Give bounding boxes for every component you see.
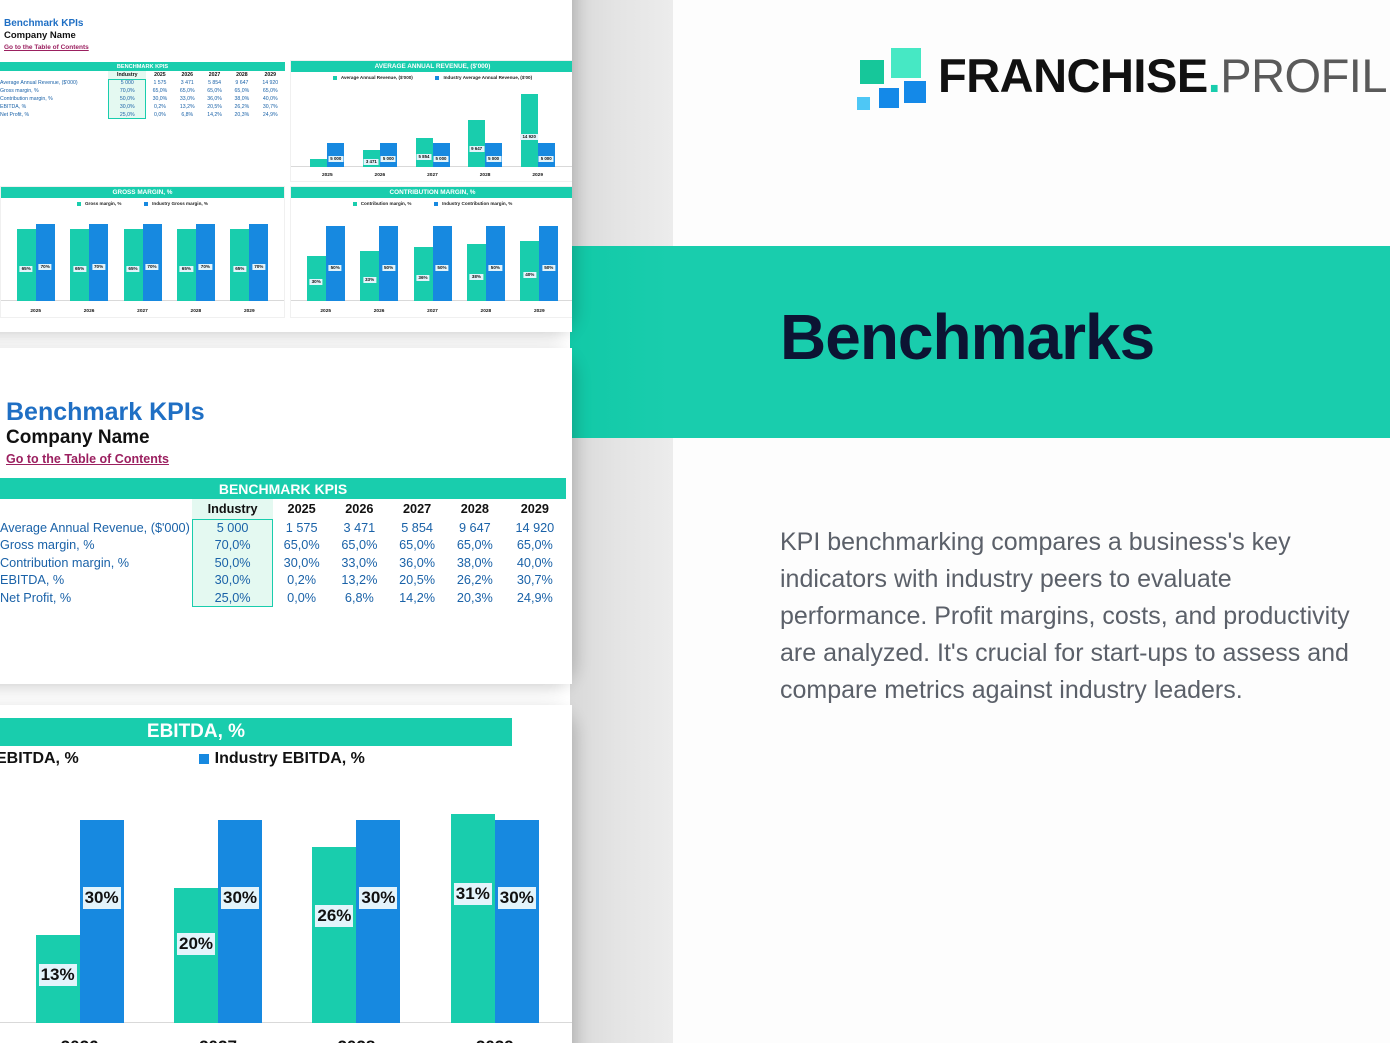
- kpi-banner: BENCHMARK KPIS: [0, 478, 566, 499]
- kpi-industry-cell: 25,0%: [108, 111, 146, 119]
- chart-bar: 65%: [230, 229, 249, 301]
- chart-bar: 5 000: [380, 143, 397, 167]
- kpi-value-cell: 20,5%: [201, 103, 228, 111]
- chart-gross-margin-mini-plot: 65%70%202565%70%202665%70%202765%70%2028…: [1, 215, 284, 317]
- chart-bar: 30%: [307, 256, 326, 301]
- chart-data-label: 50%: [329, 265, 342, 271]
- chart-bar-group: 65%70%: [70, 224, 108, 301]
- kpi-row-label: Net Profit, %: [0, 111, 108, 119]
- table-row: Net Profit, %25,0%0,0%6,8%14,2%20,3%24,9…: [0, 589, 566, 607]
- logo-square-mint: [891, 48, 921, 78]
- chart-ebitda-title: EBITDA, %: [0, 718, 512, 746]
- chart-ebitda-legend: EBITDA, % Industry EBITDA, %: [0, 750, 400, 768]
- kpi-row-label: Net Profit, %: [0, 589, 192, 607]
- kpi-value-cell: 9 647: [228, 79, 255, 87]
- chart-gross-margin-mini-title: GROSS MARGIN, %: [1, 187, 284, 198]
- excel-sheet-overview: Benchmark KPIs Company Name Go to the Ta…: [0, 0, 572, 332]
- kpi-value-cell: 24,9%: [256, 111, 285, 119]
- chart-data-label: 26%: [315, 905, 353, 927]
- chart-bar: 65%: [70, 229, 89, 301]
- table-row: Average Annual Revenue, ($'000)5 0001 57…: [0, 79, 285, 87]
- kpi-value-cell: 3 471: [331, 519, 389, 537]
- chart-bar: 70%: [36, 224, 55, 301]
- chart-bar: 30%: [80, 820, 124, 1023]
- chart-x-label: 2029: [511, 173, 564, 178]
- chart-data-label: 40%: [523, 272, 536, 278]
- chart-bar: 70%: [249, 224, 268, 301]
- kpi-value-cell: 5 854: [201, 79, 228, 87]
- sheet-title-mini: Benchmark KPIs: [4, 18, 83, 30]
- legend-item-cm-company: Contribution margin, %: [353, 201, 412, 206]
- chart-bar: 50%: [326, 226, 345, 301]
- chart-data-label: 30%: [359, 887, 397, 909]
- chart-bar: 50%: [433, 226, 452, 301]
- logo-square-blue-small: [879, 88, 899, 108]
- chart-data-label: 20%: [177, 933, 215, 955]
- chart-x-label: 2025: [0, 1037, 10, 1043]
- logo-square-lightblue: [857, 97, 870, 110]
- kpi-value-cell: 6,8%: [331, 589, 389, 607]
- chart-bar-group: 30%50%: [307, 226, 345, 301]
- chart-x-label: 2026: [352, 309, 405, 314]
- chart-bar-group: 33%50%: [360, 226, 398, 301]
- chart-revenue-mini: AVERAGE ANNUAL REVENUE, ($'000) Average …: [290, 60, 572, 182]
- kpi-industry-cell: 50,0%: [192, 554, 272, 572]
- kpi-value-cell: 20,5%: [388, 572, 446, 590]
- chart-bar: 36%: [414, 247, 433, 301]
- chart-x-label: 2027: [149, 1037, 287, 1043]
- legend-item-ebitda-industry: Industry EBITDA, %: [199, 750, 365, 768]
- chart-bar: 31%: [451, 814, 495, 1023]
- kpi-value-cell: 65,0%: [228, 87, 255, 95]
- legend-item-gm-company: Gross margin, %: [77, 201, 122, 206]
- chart-bar-group: 65%70%: [124, 224, 162, 301]
- chart-data-label: 65%: [20, 266, 33, 272]
- kpi-value-cell: 65,0%: [256, 87, 285, 95]
- chart-x-label: 2029: [426, 1037, 564, 1043]
- chart-data-label: 70%: [145, 264, 158, 270]
- chart-data-label: 70%: [199, 264, 212, 270]
- chart-data-label: 70%: [92, 264, 105, 270]
- kpi-value-cell: 13,2%: [331, 572, 389, 590]
- kpi-value-cell: 24,9%: [504, 589, 566, 607]
- kpi-value-cell: 0,0%: [146, 111, 173, 119]
- kpi-value-cell: 14,2%: [388, 589, 446, 607]
- chart-data-label: 5 854: [417, 154, 432, 160]
- chart-bar: 5 854: [416, 138, 433, 167]
- chart-bar: 70%: [89, 224, 108, 301]
- chart-data-label: 38%: [470, 274, 483, 280]
- chart-data-label: 65%: [126, 266, 139, 272]
- chart-gross-margin-mini: GROSS MARGIN, % Gross margin, % Industry…: [0, 186, 285, 318]
- kpi-value-cell: 65,0%: [273, 537, 331, 555]
- chart-bar: 30%: [356, 820, 400, 1023]
- kpi-value-cell: 30,7%: [504, 572, 566, 590]
- chart-x-label: 2025: [301, 173, 354, 178]
- kpi-banner-mini: BENCHMARK KPIS: [0, 62, 285, 71]
- kpi-value-cell: 65,0%: [174, 87, 201, 95]
- kpi-industry-cell: 70,0%: [192, 537, 272, 555]
- brand-name-light: PROFILES: [1220, 49, 1390, 102]
- sheet-subtitle: Company Name: [6, 426, 150, 450]
- chart-bar: 5 000: [433, 143, 450, 167]
- kpi-value-cell: 14 920: [504, 519, 566, 537]
- kpi-col-header: Industry: [108, 71, 146, 79]
- brand-logo: FRANCHISE.PROFILES: [852, 44, 1390, 106]
- chart-bar: 30%: [218, 820, 262, 1023]
- chart-bar: 13%: [36, 935, 80, 1023]
- kpi-value-cell: 3 471: [174, 79, 201, 87]
- kpi-value-cell: 13,2%: [174, 103, 201, 111]
- chart-bar-group: 9 6475 000: [468, 120, 502, 167]
- franchise-profiles-logo-icon: [852, 44, 922, 106]
- table-row: Gross margin, %70,0%65,0%65,0%65,0%65,0%…: [0, 537, 566, 555]
- kpi-value-cell: 26,2%: [228, 103, 255, 111]
- slide-canvas: FRANCHISE.PROFILES Benchmarks KPI benchm…: [0, 0, 1390, 1043]
- chart-bar-group: 65%70%: [230, 224, 268, 301]
- kpi-head-row: Industry20252026202720282029: [0, 499, 566, 519]
- chart-bar: 40%: [520, 241, 539, 301]
- chart-bar-group: 38%50%: [467, 226, 505, 301]
- table-row: Gross margin, %70,0%65,0%65,0%65,0%65,0%…: [0, 87, 285, 95]
- kpi-row-label: Contribution margin, %: [0, 554, 192, 572]
- chart-data-label: 14 920: [520, 134, 537, 140]
- chart-data-label: 70%: [252, 264, 265, 270]
- kpi-value-cell: 20,3%: [446, 589, 504, 607]
- kpi-industry-cell: 70,0%: [108, 87, 146, 95]
- kpi-value-cell: 65,0%: [446, 537, 504, 555]
- kpi-value-cell: 30,0%: [273, 554, 331, 572]
- chart-data-label: 70%: [39, 264, 52, 270]
- kpi-industry-cell: 25,0%: [192, 589, 272, 607]
- chart-bar-group: 5 000: [310, 143, 344, 167]
- toc-link-mini[interactable]: Go to the Table of Contents: [4, 43, 89, 52]
- kpi-industry-cell: 50,0%: [108, 95, 146, 103]
- brand-dot: .: [1208, 49, 1221, 102]
- kpi-value-cell: 40,0%: [256, 95, 285, 103]
- chart-data-label: 5 000: [328, 156, 343, 162]
- chart-x-label: 2027: [116, 309, 169, 314]
- chart-data-label: 5 000: [539, 156, 554, 162]
- legend-item-revenue-industry: Industry Average Annual Revenue, ($'00): [435, 75, 532, 80]
- gray-divider-strip: [570, 0, 673, 1043]
- kpi-value-cell: 26,2%: [446, 572, 504, 590]
- table-row: Average Annual Revenue, ($'000)5 0001 57…: [0, 519, 566, 537]
- kpi-row-label: Gross margin, %: [0, 87, 108, 95]
- kpi-value-cell: 33,0%: [331, 554, 389, 572]
- chart-x-label: 2026: [10, 1037, 148, 1043]
- kpi-value-cell: 6,8%: [174, 111, 201, 119]
- chart-bar: 50%: [539, 226, 558, 301]
- kpi-col-header: 2028: [446, 499, 504, 519]
- chart-bar-group: 31%30%: [451, 814, 539, 1023]
- chart-bar: [310, 159, 327, 167]
- legend-item-gm-industry: Industry Gross margin, %: [144, 201, 208, 206]
- brand-wordmark: FRANCHISE.PROFILES: [938, 52, 1390, 99]
- chart-ebitda: EBITDA, % EBITDA, % Industry EBITDA, % 3…: [0, 705, 572, 1043]
- kpi-industry-cell: 30,0%: [108, 103, 146, 111]
- sheet-subtitle-mini: Company Name: [4, 30, 76, 42]
- sheet-title: Benchmark KPIs: [6, 398, 205, 426]
- right-panel-background: [673, 0, 1390, 1043]
- chart-bar: 14 920: [521, 94, 538, 167]
- chart-bar-group: 13%30%: [36, 820, 124, 1023]
- legend-item-cm-industry: Industry Contribution margin, %: [434, 201, 512, 206]
- kpi-row-label: Gross margin, %: [0, 537, 192, 555]
- chart-contribution-margin-mini-title: CONTRIBUTION MARGIN, %: [291, 187, 572, 198]
- kpi-col-header: 2025: [146, 71, 173, 79]
- kpi-value-cell: 30,0%: [146, 95, 173, 103]
- chart-data-label: 3 471: [364, 159, 379, 165]
- chart-bar: 50%: [486, 226, 505, 301]
- kpi-value-cell: 0,2%: [146, 103, 173, 111]
- kpi-col-header: 2028: [228, 71, 255, 79]
- kpi-col-header: 2025: [273, 499, 331, 519]
- kpi-value-cell: 9 647: [446, 519, 504, 537]
- description-paragraph: KPI benchmarking compares a business's k…: [780, 524, 1360, 709]
- excel-sheet-ebitda: EBITDA, % EBITDA, % Industry EBITDA, % 3…: [0, 705, 572, 1043]
- page-title: Benchmarks: [780, 305, 1154, 369]
- chart-bar-group: 26%30%: [312, 820, 400, 1023]
- logo-square-blue-large: [904, 81, 926, 103]
- chart-data-label: 30%: [498, 887, 536, 909]
- kpi-table-mini: BENCHMARK KPIS Industry20252026202720282…: [0, 62, 285, 119]
- kpi-col-header: 2026: [331, 499, 389, 519]
- chart-bar-group: 3 4715 000: [363, 143, 397, 167]
- logo-square-teal: [860, 60, 884, 84]
- chart-bar-group: 20%30%: [174, 820, 262, 1023]
- chart-bar: 5 000: [485, 143, 502, 167]
- kpi-col-header: 2027: [388, 499, 446, 519]
- chart-x-label: 2026: [354, 173, 407, 178]
- kpi-value-cell: 38,0%: [228, 95, 255, 103]
- chart-x-label: 2025: [299, 309, 352, 314]
- chart-x-label: 2028: [287, 1037, 425, 1043]
- screenshot-card-ebitda: EBITDA, % EBITDA, % Industry EBITDA, % 3…: [0, 705, 572, 1043]
- chart-bar: 65%: [17, 229, 36, 301]
- kpi-value-cell: 33,0%: [174, 95, 201, 103]
- kpi-value-cell: 38,0%: [446, 554, 504, 572]
- chart-data-label: 30%: [83, 887, 121, 909]
- kpi-value-cell: 1 575: [146, 79, 173, 87]
- chart-data-label: 50%: [382, 265, 395, 271]
- chart-x-label: 2029: [513, 309, 566, 314]
- kpi-value-cell: 36,0%: [201, 95, 228, 103]
- chart-bar-group: 14 9205 000: [521, 94, 555, 167]
- chart-bar: 26%: [312, 847, 356, 1023]
- kpi-value-cell: 65,0%: [388, 537, 446, 555]
- kpi-industry-cell: 30,0%: [192, 572, 272, 590]
- chart-x-label: 2028: [459, 309, 512, 314]
- chart-data-label: 65%: [180, 266, 193, 272]
- kpi-col-header: 2029: [504, 499, 566, 519]
- kpi-value-cell: 30,7%: [256, 103, 285, 111]
- legend-item-revenue-company: Average Annual Revenue, ($'000): [333, 75, 413, 80]
- kpi-col-header: 2026: [174, 71, 201, 79]
- kpi-table: BENCHMARK KPIS Industry20252026202720282…: [0, 478, 566, 607]
- chart-bar: 20%: [174, 888, 218, 1023]
- kpi-value-cell: 65,0%: [146, 87, 173, 95]
- chart-data-label: 31%: [454, 883, 492, 905]
- chart-x-label: 2026: [62, 309, 115, 314]
- kpi-row-label: Contribution margin, %: [0, 95, 108, 103]
- kpi-industry-cell: 5 000: [108, 79, 146, 87]
- chart-data-label: 50%: [489, 265, 502, 271]
- kpi-value-cell: 14,2%: [201, 111, 228, 119]
- screenshot-card-kpi-table: Benchmark KPIs Company Name Go to the Ta…: [0, 348, 572, 684]
- chart-x-label: 2025: [9, 309, 62, 314]
- kpi-value-cell: 40,0%: [504, 554, 566, 572]
- chart-revenue-mini-legend: Average Annual Revenue, ($'000) Industry…: [291, 75, 572, 80]
- kpi-value-cell: 0,2%: [273, 572, 331, 590]
- chart-revenue-mini-title: AVERAGE ANNUAL REVENUE, ($'000): [291, 61, 572, 72]
- toc-link[interactable]: Go to the Table of Contents: [6, 451, 169, 467]
- chart-bar: 9 647: [468, 120, 485, 167]
- chart-data-label: 65%: [233, 266, 246, 272]
- chart-bar-group: 5 8545 000: [416, 138, 450, 167]
- chart-bar: 5 000: [538, 143, 555, 167]
- chart-bar-group: 65%70%: [17, 224, 55, 301]
- table-row: EBITDA, %30,0%0,2%13,2%20,5%26,2%30,7%: [0, 572, 566, 590]
- kpi-col-header: 2027: [201, 71, 228, 79]
- kpi-table-mini-wrap: BENCHMARK KPIS Industry20252026202720282…: [0, 62, 285, 119]
- chart-bar: 3 471: [363, 150, 380, 167]
- table-row: Net Profit, %25,0%0,0%6,8%14,2%20,3%24,9…: [0, 111, 285, 119]
- kpi-body: Average Annual Revenue, ($'000)5 0001 57…: [0, 519, 566, 607]
- chart-bar: 50%: [379, 226, 398, 301]
- chart-data-label: 9 647: [469, 146, 484, 152]
- chart-bar: 65%: [177, 229, 196, 301]
- table-row: Contribution margin, %50,0%30,0%33,0%36,…: [0, 95, 285, 103]
- kpi-value-cell: 0,0%: [273, 589, 331, 607]
- chart-x-label: 2027: [406, 173, 459, 178]
- chart-x-label: 2027: [406, 309, 459, 314]
- chart-data-label: 33%: [363, 277, 376, 283]
- chart-bar: 5 000: [327, 143, 344, 167]
- kpi-col-header: 2029: [256, 71, 285, 79]
- chart-bar-group: 40%50%: [520, 226, 558, 301]
- kpi-value-cell: 5 854: [388, 519, 446, 537]
- chart-data-label: 30%: [310, 279, 323, 285]
- chart-bar-group: 36%50%: [414, 226, 452, 301]
- chart-contribution-margin-mini-plot: 30%50%202533%50%202636%50%202738%50%2028…: [291, 215, 572, 317]
- chart-data-label: 50%: [542, 265, 555, 271]
- kpi-value-cell: 65,0%: [201, 87, 228, 95]
- kpi-body-mini: Average Annual Revenue, ($'000)5 0001 57…: [0, 79, 285, 119]
- chart-bar: 65%: [124, 229, 143, 301]
- legend-item-ebitda-company: EBITDA, %: [0, 750, 79, 768]
- chart-bar: 33%: [360, 251, 379, 301]
- kpi-industry-cell: 5 000: [192, 519, 272, 537]
- chart-bar-group: 65%70%: [177, 224, 215, 301]
- chart-data-label: 65%: [73, 266, 86, 272]
- chart-bar: 30%: [495, 820, 539, 1023]
- chart-data-label: 5 000: [381, 156, 396, 162]
- chart-contribution-margin-mini: CONTRIBUTION MARGIN, % Contribution marg…: [290, 186, 572, 318]
- kpi-value-cell: 65,0%: [331, 537, 389, 555]
- kpi-value-cell: 36,0%: [388, 554, 446, 572]
- kpi-value-cell: 1 575: [273, 519, 331, 537]
- kpi-row-label: Average Annual Revenue, ($'000): [0, 519, 192, 537]
- chart-data-label: 36%: [416, 275, 429, 281]
- kpi-row-label: EBITDA, %: [0, 572, 192, 590]
- chart-gross-margin-mini-legend: Gross margin, % Industry Gross margin, %: [1, 201, 284, 206]
- screenshot-card-overview: Benchmark KPIs Company Name Go to the Ta…: [0, 0, 572, 332]
- chart-bar: 38%: [467, 244, 486, 301]
- excel-sheet-kpi: Benchmark KPIs Company Name Go to the Ta…: [0, 348, 572, 684]
- kpi-row-label: EBITDA, %: [0, 103, 108, 111]
- kpi-value-cell: 20,3%: [228, 111, 255, 119]
- chart-data-label: 30%: [221, 887, 259, 909]
- kpi-col-header: Industry: [192, 499, 272, 519]
- chart-ebitda-plot: 30%202513%30%202620%30%202726%30%202831%…: [0, 800, 572, 1043]
- chart-x-label: 2028: [459, 173, 512, 178]
- chart-bar: 70%: [196, 224, 215, 301]
- kpi-table-wrap: BENCHMARK KPIS Industry20252026202720282…: [0, 478, 566, 607]
- brand-name-bold: FRANCHISE: [938, 49, 1208, 102]
- chart-data-label: 5 000: [486, 156, 501, 162]
- kpi-row-label: Average Annual Revenue, ($'000): [0, 79, 108, 87]
- chart-bar: 70%: [143, 224, 162, 301]
- kpi-value-cell: 65,0%: [504, 537, 566, 555]
- table-row: Contribution margin, %50,0%30,0%33,0%36,…: [0, 554, 566, 572]
- kpi-value-cell: 14 920: [256, 79, 285, 87]
- kpi-head-row-mini: Industry20252026202720282029: [0, 71, 285, 79]
- chart-contribution-margin-mini-legend: Contribution margin, % Industry Contribu…: [291, 201, 572, 206]
- chart-x-label: 2028: [169, 309, 222, 314]
- chart-data-label: 13%: [39, 964, 77, 986]
- chart-x-label: 2029: [223, 309, 276, 314]
- chart-revenue-mini-plot: 5 00020253 4715 00020265 8545 00020279 6…: [291, 89, 572, 181]
- table-row: EBITDA, %30,0%0,2%13,2%20,5%26,2%30,7%: [0, 103, 285, 111]
- chart-data-label: 5 000: [434, 156, 449, 162]
- chart-data-label: 50%: [435, 265, 448, 271]
